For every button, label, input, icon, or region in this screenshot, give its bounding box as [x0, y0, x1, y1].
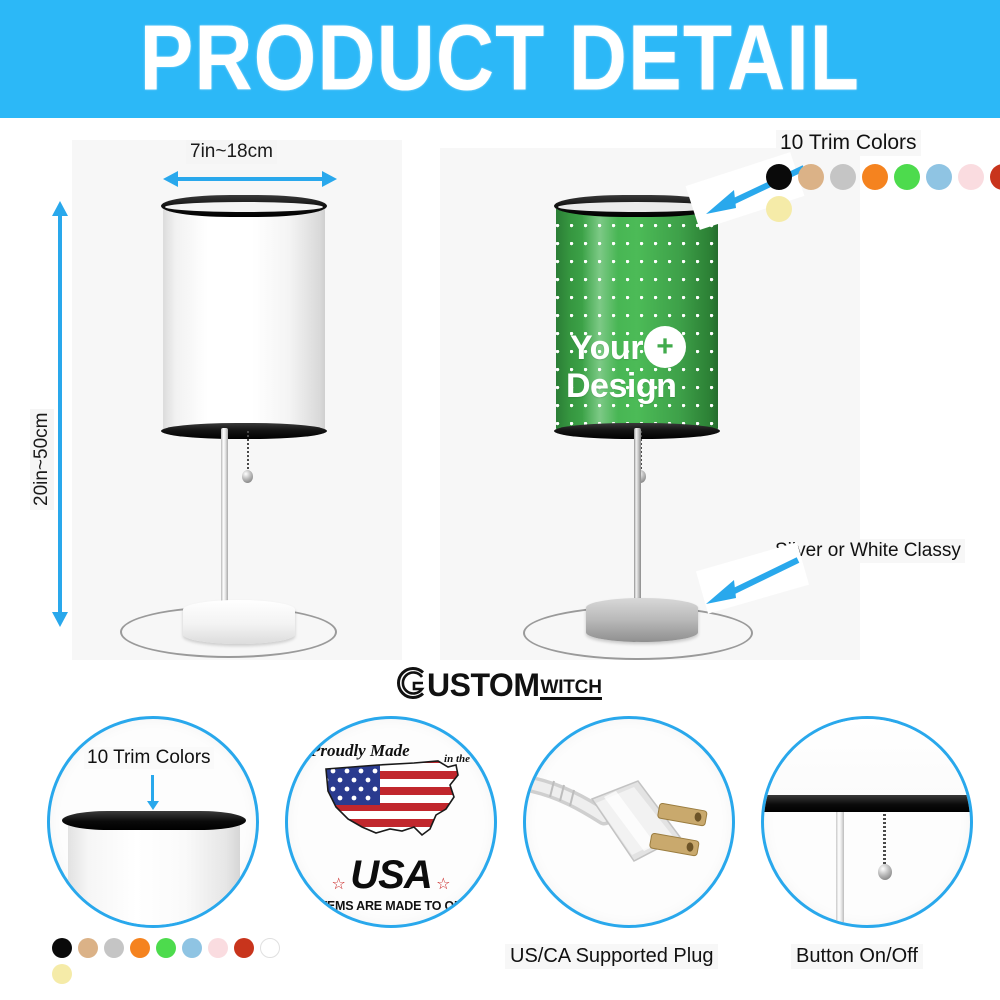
trim-swatch-black[interactable] [766, 164, 792, 190]
us-plug-icon [530, 741, 730, 907]
usa-flag-map-icon [318, 755, 466, 851]
height-arrow-head-bottom [52, 612, 68, 627]
lamp-base-silver [586, 598, 698, 642]
star-icon-right: ☆ [436, 876, 450, 893]
width-arrow-head-left [163, 171, 178, 187]
trim-swatch-orange[interactable] [130, 938, 150, 958]
usa-badge-subtext: ALL ITEMS ARE MADE TO ORDER! [288, 899, 494, 913]
trim-swatch-white[interactable] [260, 938, 280, 958]
star-icon-left: ☆ [331, 876, 345, 893]
feature-switch-circle [761, 716, 973, 928]
trim-pointer-arrow-line [151, 775, 154, 803]
plus-icon: + [644, 326, 686, 368]
feature-plug-circle [523, 716, 735, 928]
switch-shade-trim [761, 795, 973, 812]
lampshade-surface [163, 206, 325, 431]
trim-color-swatches-top [766, 164, 1000, 222]
width-arrow-line [176, 177, 324, 181]
brand-name-main: USTOM [427, 671, 539, 700]
switch-pull-chain-ball[interactable] [878, 864, 892, 880]
trim-swatch-black[interactable] [52, 938, 72, 958]
lampshade-white [163, 206, 325, 431]
trim-swatch-red[interactable] [990, 164, 1000, 190]
trim-swatch-pink[interactable] [208, 938, 228, 958]
trim-color-swatches-bottom [52, 938, 286, 984]
lamp-pole-white [221, 428, 228, 620]
mini-lampshade-body [68, 823, 240, 928]
switch-shade-body [761, 719, 973, 797]
main-stage: 7in~18cm 20in~50cm [0, 118, 1000, 663]
lamp-pole-silver [634, 428, 641, 620]
trim-pointer-arrow-head [147, 801, 159, 810]
trim-swatch-light-blue[interactable] [182, 938, 202, 958]
lampshade-surface-green: Your + Design [556, 206, 718, 431]
trim-swatch-green[interactable] [894, 164, 920, 190]
c-swoosh-icon [392, 666, 426, 700]
pull-chain-ball[interactable] [242, 470, 253, 483]
trim-swatch-tan[interactable] [78, 938, 98, 958]
trim-colors-title: 10 Trim Colors [776, 130, 921, 156]
trim-swatch-yellow[interactable] [52, 964, 72, 984]
header-banner: PRODUCT DETAIL [0, 0, 1000, 118]
page-title: PRODUCT DETAIL [140, 13, 860, 106]
trim-swatch-tan[interactable] [798, 164, 824, 190]
feature-trim-colors-circle: 10 Trim Colors [47, 716, 259, 928]
trim-swatch-gray[interactable] [830, 164, 856, 190]
width-arrow-head-right [322, 171, 337, 187]
design-text-line2: Design [566, 369, 676, 403]
lamp-base-white [183, 600, 295, 644]
trim-swatch-pink[interactable] [958, 164, 984, 190]
feature-trim-colors-inner-label: 10 Trim Colors [84, 747, 214, 769]
trim-swatch-yellow[interactable] [766, 196, 792, 222]
trim-swatch-light-blue[interactable] [926, 164, 952, 190]
width-dimension-label: 7in~18cm [186, 140, 277, 164]
height-arrow-line [58, 214, 62, 614]
brand-logo: USTOM WITCH [392, 666, 602, 700]
height-arrow-head-top [52, 201, 68, 216]
lampshade-gloss [189, 206, 225, 431]
trim-swatch-orange[interactable] [862, 164, 888, 190]
lampshade-green: Your + Design [556, 206, 718, 431]
height-dimension-label: 20in~50cm [30, 409, 54, 510]
lampshade-trim-bottom [161, 423, 327, 439]
feature-made-in-usa-circle: Proudly Made in the [285, 716, 497, 928]
feature-plug-caption: US/CA Supported Plug [505, 944, 718, 969]
trim-swatch-gray[interactable] [104, 938, 124, 958]
usa-badge-word: USA [350, 853, 431, 897]
design-text-line1: Your [570, 331, 643, 365]
usa-word-row: ☆ USA ☆ [288, 855, 494, 895]
trim-swatch-red[interactable] [234, 938, 254, 958]
pull-chain[interactable] [247, 431, 249, 475]
mini-lampshade-trim [62, 811, 246, 830]
product-detail-infographic: PRODUCT DETAIL 7in~18cm 20in~50cm [0, 0, 1000, 1000]
brand-name-sub: WITCH [540, 679, 601, 700]
switch-pull-chain[interactable] [883, 814, 886, 868]
switch-lamp-pole [836, 812, 844, 925]
lampshade-top-opening [165, 202, 323, 212]
trim-swatch-green[interactable] [156, 938, 176, 958]
base-finish-arrow-icon [698, 550, 808, 612]
feature-switch-caption: Button On/Off [791, 944, 923, 969]
